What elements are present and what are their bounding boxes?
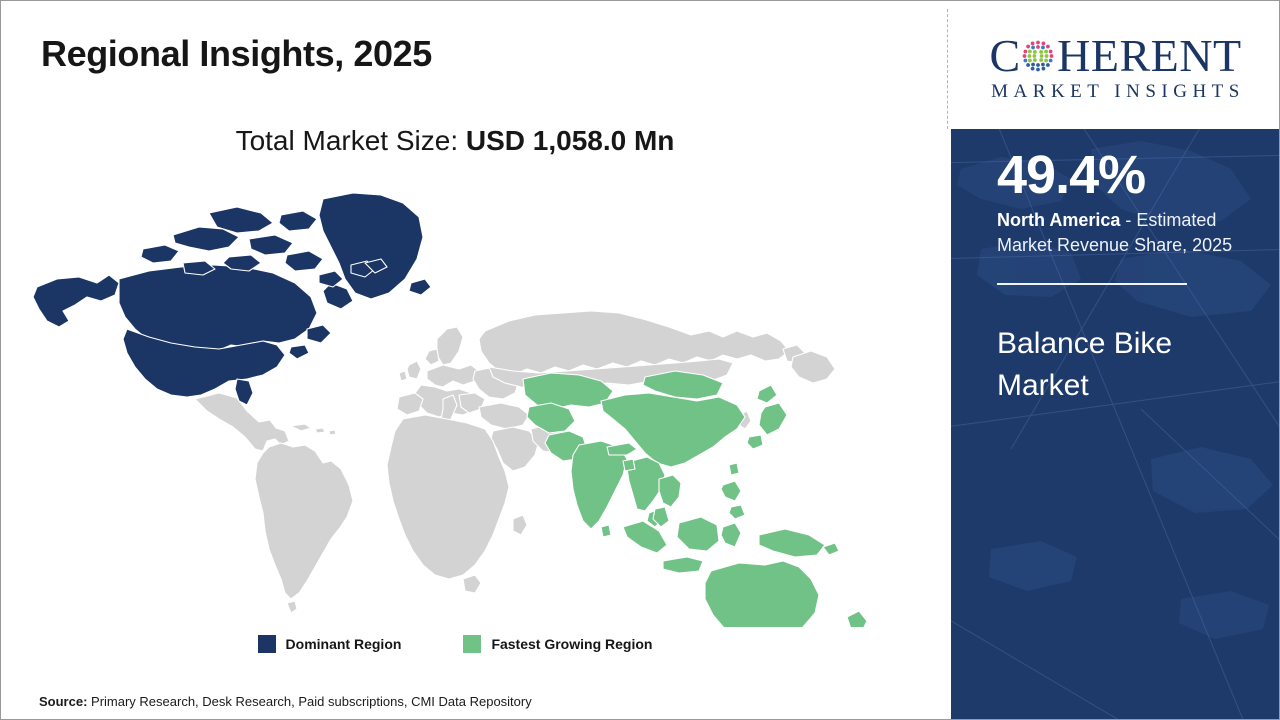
source-label: Source:	[39, 694, 87, 709]
share-percentage: 49.4%	[997, 147, 1256, 204]
panel-divider-rule	[997, 283, 1187, 285]
world-map-svg	[23, 179, 903, 627]
source-text: Primary Research, Desk Research, Paid su…	[87, 694, 531, 709]
map-legend: Dominant Region Fastest Growing Region	[1, 635, 909, 653]
infographic-canvas: Regional Insights, 2025 Total Market Siz…	[0, 0, 1280, 720]
map-region-asia-pacific	[523, 371, 867, 627]
legend-label-fastest-growing: Fastest Growing Region	[491, 636, 652, 652]
legend-label-dominant: Dominant Region	[286, 636, 402, 652]
logo-letter-c: C	[989, 33, 1020, 79]
total-market-size: Total Market Size: USD 1,058.0 Mn	[1, 125, 909, 157]
share-description: North America - Estimated Market Revenue…	[997, 208, 1256, 259]
highlight-panel: 49.4% North America - Estimated Market R…	[951, 129, 1280, 719]
logo-wordmark-text: HERENT	[1057, 33, 1241, 79]
world-map	[23, 179, 903, 627]
source-note: Source: Primary Research, Desk Research,…	[39, 694, 532, 709]
dotted-globe-icon	[1020, 38, 1056, 74]
market-size-value: USD 1,058.0 Mn	[466, 125, 675, 156]
brand-logo: C	[951, 2, 1280, 129]
market-size-label: Total Market Size:	[236, 125, 459, 156]
legend-item-fastest-growing: Fastest Growing Region	[463, 635, 652, 653]
legend-swatch-dominant	[258, 635, 276, 653]
page-title: Regional Insights, 2025	[41, 33, 432, 75]
logo-tagline: MARKET INSIGHTS	[986, 81, 1245, 103]
vertical-divider	[947, 9, 948, 129]
legend-swatch-fastest-growing	[463, 635, 481, 653]
share-region-name: North America	[997, 210, 1120, 230]
logo-wordmark: C	[989, 33, 1241, 79]
map-region-north-america	[33, 193, 431, 405]
legend-item-dominant: Dominant Region	[258, 635, 402, 653]
left-content-pane: Regional Insights, 2025 Total Market Siz…	[1, 1, 948, 719]
panel-content: 49.4% North America - Estimated Market R…	[997, 147, 1256, 408]
market-name: Balance Bike Market	[997, 323, 1247, 408]
